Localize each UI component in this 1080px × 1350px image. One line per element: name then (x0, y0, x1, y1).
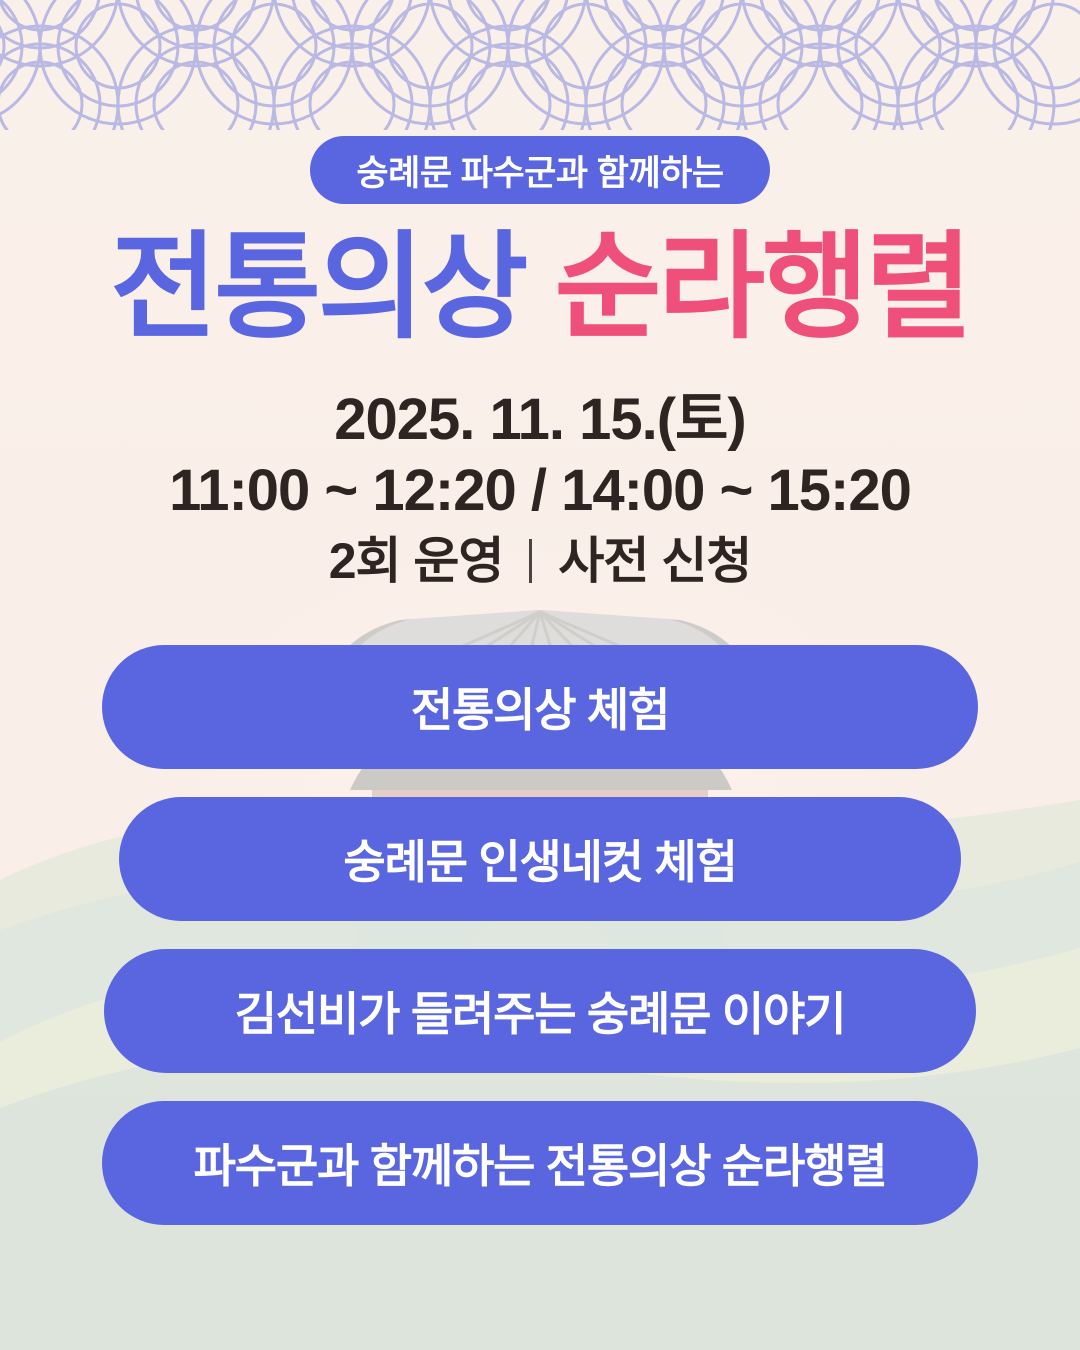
program-item-2-label: 숭례문 인생네컷 체험 (343, 826, 736, 892)
program-item-3-label: 김선비가 들려주는 숭례문 이야기 (235, 978, 845, 1044)
program-item-1-label: 전통의상 체험 (411, 674, 669, 740)
program-item-4-label: 파수군과 함께하는 전통의상 순라행렬 (194, 1130, 887, 1196)
program-item-3[interactable]: 김선비가 들려주는 숭례문 이야기 (104, 949, 976, 1073)
event-times: 11:00 ~ 12:20 / 14:00 ~ 15:20 (0, 456, 1080, 527)
subtitle-badge-label: 숭례문 파수군과 함께하는 (356, 145, 723, 196)
poster-content: 숭례문 파수군과 함께하는 전통의상 순라행렬 2025. 11. 15.(토)… (0, 0, 1080, 1350)
page-title-space (525, 222, 554, 352)
registration-type: 사전 신청 (558, 531, 751, 592)
page-title: 전통의상 순라행렬 (0, 227, 1080, 349)
subtitle-badge: 숭례문 파수군과 함께하는 (310, 136, 769, 204)
meta-separator-icon (529, 539, 532, 583)
session-count: 2회 운영 (329, 531, 504, 592)
badge-row: 숭례문 파수군과 함께하는 (0, 136, 1080, 204)
event-meta: 2회 운영 사전 신청 (0, 531, 1080, 592)
program-item-1[interactable]: 전통의상 체험 (102, 645, 978, 769)
page-title-part2: 순라행렬 (555, 222, 970, 352)
event-poster: 숭례문 파수군과 함께하는 전통의상 순라행렬 2025. 11. 15.(토)… (0, 0, 1080, 1350)
program-list: 전통의상 체험 숭례문 인생네컷 체험 김선비가 들려주는 숭례문 이야기 파수… (0, 645, 1080, 1253)
schedule-block: 2025. 11. 15.(토) 11:00 ~ 12:20 / 14:00 ~… (0, 385, 1080, 592)
program-item-4[interactable]: 파수군과 함께하는 전통의상 순라행렬 (102, 1101, 978, 1225)
event-date: 2025. 11. 15.(토) (0, 385, 1080, 456)
page-title-part1: 전통의상 (110, 222, 525, 352)
program-item-2[interactable]: 숭례문 인생네컷 체험 (119, 797, 961, 921)
